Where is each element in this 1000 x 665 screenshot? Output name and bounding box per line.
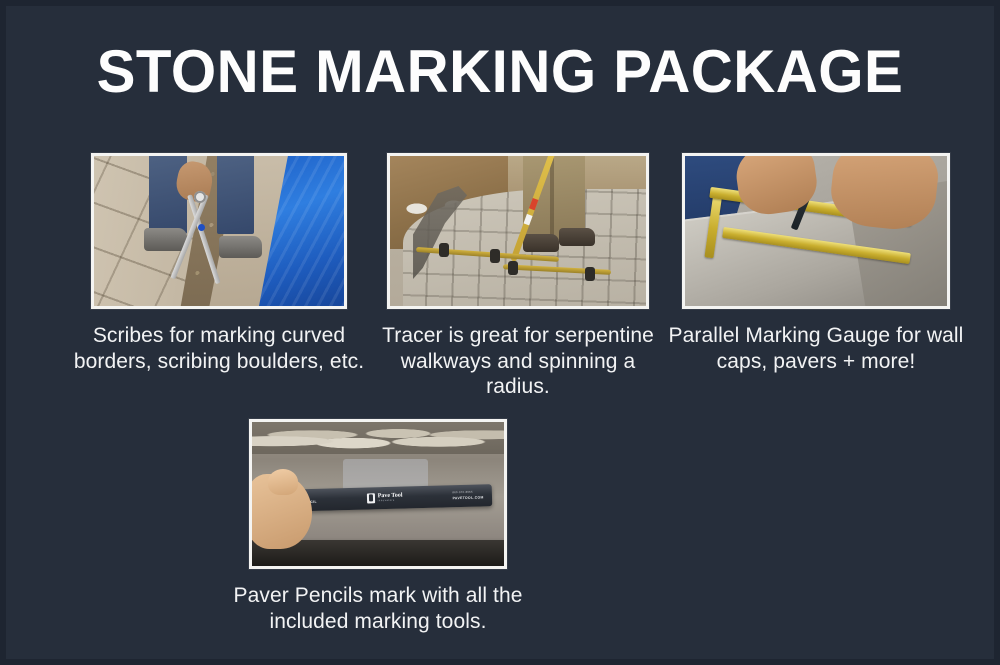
worker-right-boot	[219, 236, 262, 259]
scribe-brand-dot	[198, 224, 205, 231]
poster-canvas: STONE MARKING PACKAGE Scribes for markin…	[0, 0, 1000, 665]
worker-right-boot	[559, 228, 595, 246]
photo-paver-pencil-in-hand: QUICK-D PAVER PENCIL Pave Tool innovator…	[252, 422, 504, 566]
hand-holding-pencil	[252, 474, 312, 549]
photo-frame-tracer	[387, 153, 649, 309]
photo-frame-pencil: QUICK-D PAVER PENCIL Pave Tool innovator…	[249, 419, 507, 569]
tracer-knob	[490, 249, 500, 263]
worker-left-boot	[523, 234, 559, 252]
photo-frame-scribes	[91, 153, 347, 309]
caption-paver-pencil: Paver Pencils mark with all the included…	[228, 583, 528, 634]
caption-gauge: Parallel Marking Gauge for wall caps, pa…	[666, 323, 966, 374]
tracer-knob	[585, 267, 595, 281]
card-gauge: Parallel Marking Gauge for wall caps, pa…	[666, 153, 966, 374]
pave-tool-brand-lockup: Pave Tool innovators	[366, 492, 402, 503]
card-tracer: Tracer is great for serpentine walkways …	[373, 153, 663, 400]
caption-scribes: Scribes for marking curved borders, scri…	[68, 323, 370, 374]
photo-frame-gauge	[682, 153, 950, 309]
worker-left-boot	[144, 228, 187, 251]
brand-subtitle: innovators	[377, 499, 402, 503]
caption-tracer: Tracer is great for serpentine walkways …	[373, 323, 663, 400]
scribe-pivot-joint	[194, 191, 206, 203]
photo-tracer-on-walkway	[390, 156, 646, 306]
background-river-stones	[252, 422, 504, 454]
tracer-knob	[439, 243, 449, 257]
tracer-knob	[508, 261, 518, 275]
pencil-phone: 860-970-8665	[452, 491, 483, 496]
photo-parallel-marking-gauge	[685, 156, 947, 306]
pave-tool-logo-icon	[366, 493, 374, 503]
card-scribes: Scribes for marking curved borders, scri…	[68, 153, 370, 374]
photo-scribes-on-pavers	[94, 156, 344, 306]
card-paver-pencil: QUICK-D PAVER PENCIL Pave Tool innovator…	[228, 419, 528, 634]
worker-right-leg	[217, 156, 255, 234]
page-title: STONE MARKING PACKAGE	[21, 40, 979, 104]
